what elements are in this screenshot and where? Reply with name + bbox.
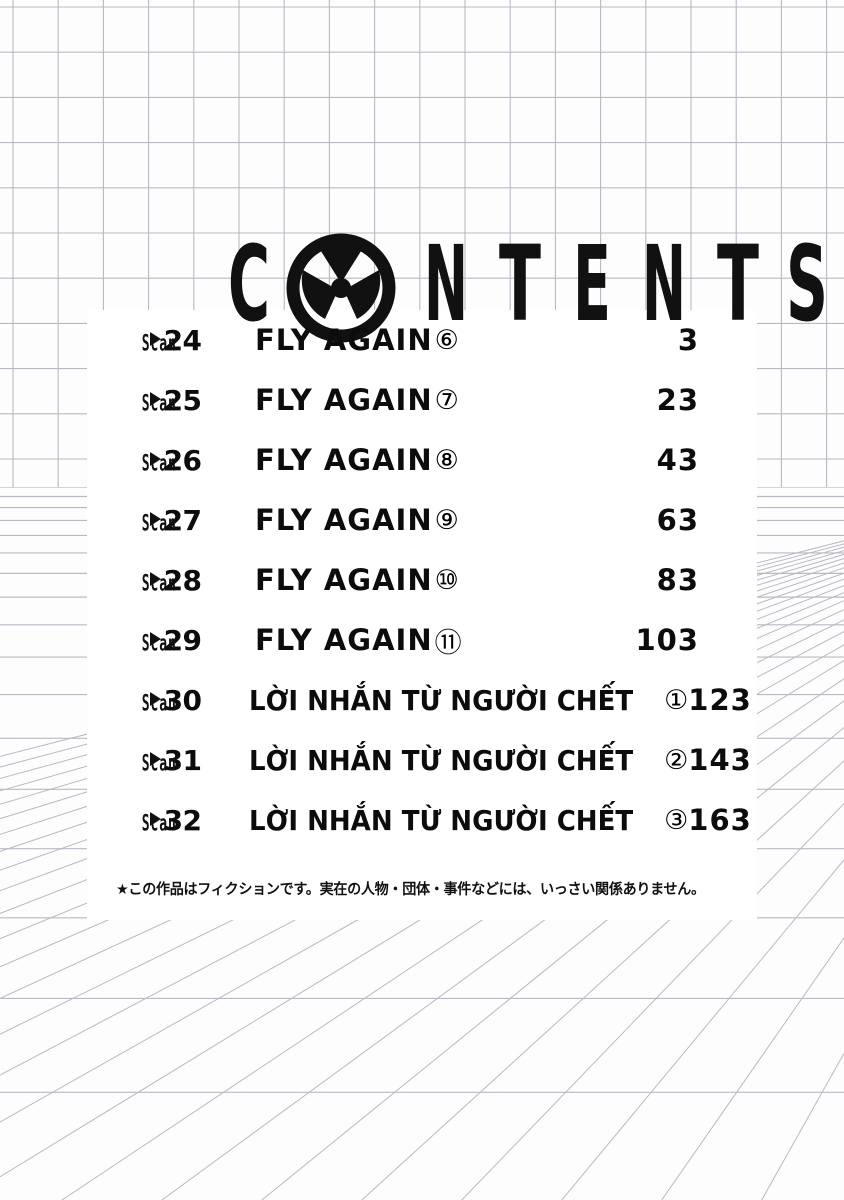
volume-mark: ⑪ (435, 621, 462, 660)
chapter-title-cell: FLY AGAIN⑥ (255, 323, 637, 357)
page-number: 43 (637, 443, 757, 477)
triangle-right-icon (150, 572, 161, 586)
triangle-right-icon (150, 512, 161, 526)
scan-cell: Scan32 (87, 804, 255, 837)
title-letter-s: S (786, 223, 828, 345)
scan-cell: Scan24 (87, 324, 255, 357)
chapter-title: LỜI NHẮN TỪ NGƯỜI CHẾT (249, 804, 633, 837)
table-row[interactable]: Scan30LỜI NHẮN TỪ NGƯỜI CHẾT①123 (87, 670, 757, 730)
page-number: 123 (688, 683, 804, 717)
volume-mark: ⑩ (435, 565, 459, 596)
contents-page: C N T E N T S Scan24FLY AGAIN⑥3Scan25FLY… (0, 0, 844, 1200)
chapter-title: LỜI NHẮN TỪ NGƯỜI CHẾT (249, 744, 633, 777)
chapter-title-cell: FLY AGAIN⑨ (255, 503, 637, 537)
volume-mark: ⑦ (435, 385, 459, 416)
chapter-title: FLY AGAIN (255, 623, 433, 657)
page-number: 3 (637, 323, 757, 357)
scan-cell: Scan27 (87, 504, 255, 537)
table-row[interactable]: Scan31LỜI NHẮN TỪ NGƯỜI CHẾT②143 (87, 730, 757, 790)
chapter-title-cell: FLY AGAIN⑪ (255, 621, 635, 660)
table-row[interactable]: Scan29FLY AGAIN⑪103 (87, 610, 757, 670)
scan-cell: Scan28 (87, 564, 255, 597)
chapter-title-cell: FLY AGAIN⑦ (255, 383, 637, 417)
table-row[interactable]: Scan25FLY AGAIN⑦23 (87, 370, 757, 430)
triangle-right-icon (150, 332, 161, 346)
table-row[interactable]: Scan32LỜI NHẮN TỪ NGƯỜI CHẾT③163 (87, 790, 757, 850)
triangle-right-icon (150, 692, 161, 706)
chapter-title: LỜI NHẮN TỪ NGƯỜI CHẾT (249, 684, 633, 717)
fiction-disclaimer: ★この作品はフィクションです。実在の人物・団体・事件などには、いっさい関係ありま… (87, 878, 737, 899)
triangle-right-icon (150, 452, 161, 466)
chapter-title: FLY AGAIN (255, 383, 433, 417)
page-number: 103 (635, 623, 757, 657)
volume-mark: ⑧ (435, 445, 459, 476)
chapter-title-cell: LỜI NHẮN TỪ NGƯỜI CHẾT② (249, 744, 688, 777)
chapter-title: FLY AGAIN (255, 563, 433, 597)
triangle-right-icon (150, 812, 161, 826)
volume-mark: ③ (664, 805, 688, 836)
scan-cell: Scan29 (87, 624, 255, 657)
volume-mark: ① (664, 685, 688, 716)
scan-cell: Scan31 (87, 744, 255, 777)
table-row[interactable]: Scan24FLY AGAIN⑥3 (87, 310, 757, 370)
triangle-right-icon (150, 752, 161, 766)
page-number: 163 (688, 803, 804, 837)
table-row[interactable]: Scan26FLY AGAIN⑧43 (87, 430, 757, 490)
chapter-title-cell: LỜI NHẮN TỪ NGƯỜI CHẾT① (249, 684, 688, 717)
chapter-title: FLY AGAIN (255, 443, 433, 477)
page-number: 63 (637, 503, 757, 537)
chapter-title-cell: FLY AGAIN⑩ (255, 563, 637, 597)
page-number: 23 (637, 383, 757, 417)
table-of-contents: Scan24FLY AGAIN⑥3Scan25FLY AGAIN⑦23Scan2… (87, 310, 757, 850)
page-number: 83 (637, 563, 757, 597)
chapter-title-cell: LỜI NHẮN TỪ NGƯỜI CHẾT③ (249, 804, 688, 837)
volume-mark: ⑨ (435, 505, 459, 536)
volume-mark: ② (664, 745, 688, 776)
scan-cell: Scan26 (87, 444, 255, 477)
chapter-title: FLY AGAIN (255, 323, 433, 357)
table-row[interactable]: Scan28FLY AGAIN⑩83 (87, 550, 757, 610)
table-row[interactable]: Scan27FLY AGAIN⑨63 (87, 490, 757, 550)
volume-mark: ⑥ (435, 325, 459, 356)
triangle-right-icon (150, 392, 161, 406)
page-number: 143 (688, 743, 804, 777)
chapter-title-cell: FLY AGAIN⑧ (255, 443, 637, 477)
chapter-title: FLY AGAIN (255, 503, 433, 537)
scan-cell: Scan25 (87, 384, 255, 417)
scan-cell: Scan30 (87, 684, 255, 717)
triangle-right-icon (150, 632, 161, 646)
